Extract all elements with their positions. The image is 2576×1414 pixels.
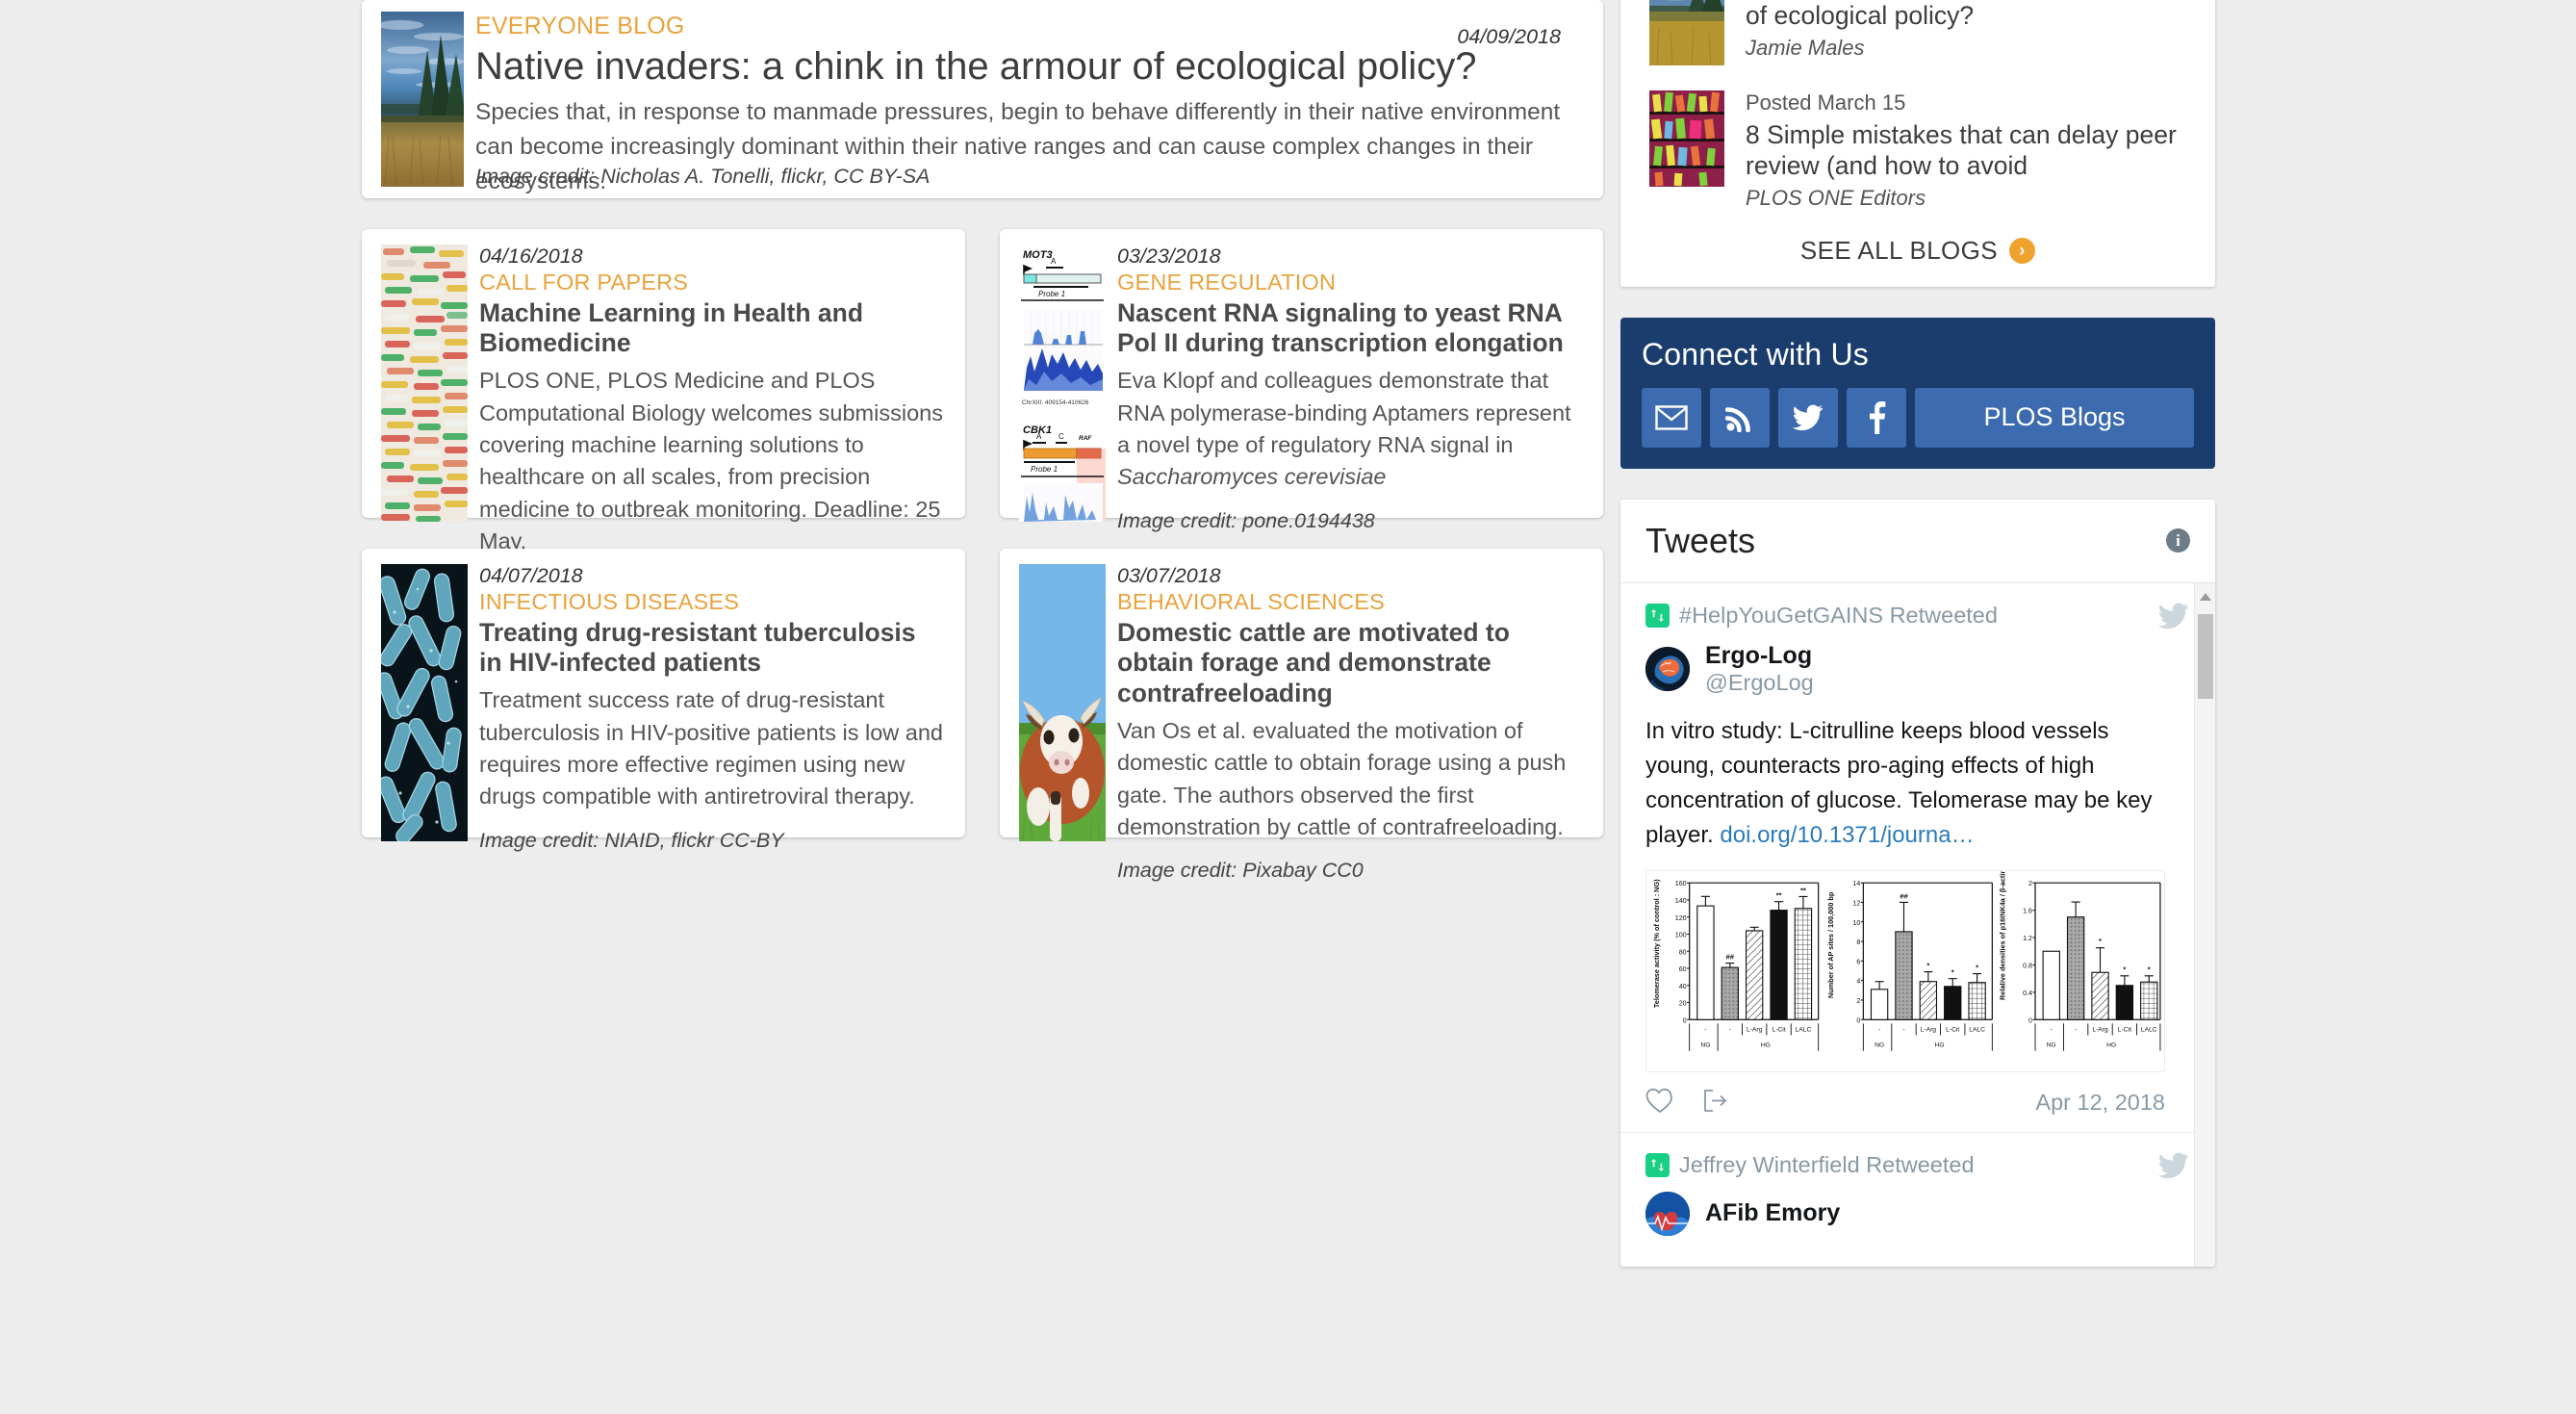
svg-text:L-Arg: L-Arg bbox=[1747, 1026, 1763, 1033]
svg-text:LALC: LALC bbox=[2141, 1026, 2157, 1033]
svg-text:2: 2 bbox=[1856, 997, 1860, 1005]
card-date: 04/07/2018 bbox=[479, 564, 944, 588]
card-headline[interactable]: Machine Learning in Health and Biomedici… bbox=[479, 298, 944, 360]
card-image-credit: Image credit: Pixabay CC0 bbox=[1117, 859, 1582, 883]
sticky-notes-wall-image bbox=[1649, 90, 1724, 187]
svg-text:10: 10 bbox=[1852, 918, 1860, 926]
blog-list-item[interactable]: Posted March 15 8 Simple mistakes that c… bbox=[1649, 65, 2186, 211]
mark-a: A bbox=[1051, 257, 1057, 266]
tweet-media[interactable]: Telomerase activity (% of control : NG) … bbox=[1645, 870, 2165, 1072]
svg-text:-: - bbox=[2051, 1026, 2053, 1033]
twitter-icon bbox=[1793, 404, 1824, 431]
mark-c: C bbox=[1058, 432, 1064, 441]
cow-in-field-image bbox=[1019, 564, 1106, 841]
card-headline[interactable]: Treating drug-resistant tuberculosis in … bbox=[479, 618, 944, 680]
svg-text:-: - bbox=[2075, 1026, 2077, 1033]
article-card-infectious-diseases[interactable]: 04/07/2018 INFECTIOUS DISEASES Treating … bbox=[362, 549, 965, 837]
tweet-display-name: Ergo-Log bbox=[1705, 642, 1814, 670]
featured-thumbnail bbox=[381, 12, 464, 187]
twitter-button[interactable] bbox=[1778, 388, 1838, 448]
svg-text:4: 4 bbox=[1856, 977, 1860, 985]
tweet-user-names: AFib Emory bbox=[1705, 1199, 1840, 1227]
tweet-user[interactable]: Ergo-Log @ErgoLog bbox=[1645, 642, 2165, 697]
svg-text:6: 6 bbox=[1856, 958, 1860, 965]
svg-text:8: 8 bbox=[1856, 938, 1860, 946]
tweets-header: Tweets i bbox=[1620, 500, 2215, 583]
retweet-arrows-icon bbox=[1650, 1159, 1665, 1171]
behavioral-sciences-card-body: 03/07/2018 BEHAVIORAL SCIENCES Domestic … bbox=[1117, 564, 1582, 820]
featured-image-credit: Image credit: Nicholas A. Tonelli, flick… bbox=[475, 165, 930, 189]
info-icon[interactable]: i bbox=[2166, 528, 2190, 553]
retweet-icon bbox=[1645, 1153, 1670, 1177]
blog-author: Jamie Males bbox=[1746, 36, 2186, 61]
connect-with-us-panel: Connect with Us bbox=[1620, 318, 2215, 469]
svg-text:2: 2 bbox=[2028, 880, 2032, 887]
svg-text:NG: NG bbox=[1700, 1041, 1710, 1048]
chart1-annot-5: ** bbox=[1800, 886, 1806, 894]
featured-date: 04/09/2018 bbox=[1457, 25, 1561, 49]
svg-text:-: - bbox=[1704, 1026, 1706, 1033]
tweet-date: Apr 12, 2018 bbox=[2035, 1090, 2165, 1116]
twitter-bird-icon bbox=[2157, 603, 2190, 634]
svg-text:0: 0 bbox=[2028, 1016, 2032, 1024]
machine-learning-thumbnail bbox=[381, 244, 468, 522]
sidebar-column: Native invaders: a chink in the armour o… bbox=[1620, 0, 2215, 1267]
svg-text:L-Cit: L-Cit bbox=[1772, 1026, 1785, 1033]
retweet-arrows-icon bbox=[1650, 609, 1665, 622]
card-kicker[interactable]: GENE REGULATION bbox=[1117, 269, 1582, 296]
blog-thumbnail bbox=[1649, 0, 1724, 65]
svg-text:120: 120 bbox=[1675, 913, 1687, 921]
svg-text:40: 40 bbox=[1679, 982, 1687, 990]
chromosome-coordinates: ChrXIII: 409154-410626 bbox=[1022, 399, 1089, 406]
svg-text:1.6: 1.6 bbox=[2023, 907, 2032, 914]
svg-text:-: - bbox=[1729, 1026, 1731, 1033]
svg-text:HG: HG bbox=[2106, 1041, 2116, 1048]
svg-text:-: - bbox=[1902, 1026, 1904, 1033]
blog-author: PLOS ONE Editors bbox=[1746, 186, 2186, 211]
chart2-annot-3: * bbox=[1926, 961, 1929, 969]
facebook-icon bbox=[1867, 401, 1886, 434]
social-buttons-row: PLOS Blogs bbox=[1642, 388, 2194, 448]
forest-landscape-image bbox=[381, 12, 464, 187]
chart2-annot-5: * bbox=[1976, 963, 1978, 971]
svg-text:80: 80 bbox=[1679, 948, 1687, 956]
blog-title[interactable]: Native invaders: a chink in the armour o… bbox=[1746, 0, 2186, 32]
tweet-handle: @ErgoLog bbox=[1705, 669, 1814, 696]
article-grid-row-1: 04/16/2018 CALL FOR PAPERS Machine Learn… bbox=[362, 229, 1603, 518]
retweet-line: #HelpYouGetGAINS Retweeted bbox=[1645, 603, 2165, 629]
tweet-actions: Apr 12, 2018 bbox=[1645, 1072, 2165, 1118]
behavioral-sciences-thumbnail bbox=[1019, 564, 1106, 841]
svg-text:60: 60 bbox=[1679, 965, 1687, 973]
gene-label-mot3: MOT3 bbox=[1023, 249, 1053, 261]
tweets-scrollbar[interactable] bbox=[2194, 583, 2215, 1267]
infectious-diseases-card-body: 04/07/2018 INFECTIOUS DISEASES Treating … bbox=[479, 564, 944, 820]
plos-blogs-label: PLOS Blogs bbox=[1983, 402, 2125, 432]
card-date: 03/23/2018 bbox=[1117, 244, 1582, 269]
retweet-line: Jeffrey Winterfield Retweeted bbox=[1645, 1152, 2165, 1178]
facebook-button[interactable] bbox=[1847, 388, 1906, 448]
svg-text:HG: HG bbox=[1935, 1041, 1945, 1048]
tweet-item[interactable]: Jeffrey Winterfield Retweeted bbox=[1620, 1133, 2215, 1267]
svg-text:1.2: 1.2 bbox=[2023, 935, 2032, 942]
chart1-annot-4: ** bbox=[1776, 890, 1782, 899]
email-button[interactable] bbox=[1642, 388, 1701, 448]
gene-regulation-card-body: 03/23/2018 GENE REGULATION Nascent RNA s… bbox=[1117, 244, 1582, 501]
svg-text:HG: HG bbox=[1761, 1041, 1771, 1048]
see-all-blogs-link[interactable]: SEE ALL BLOGS › bbox=[1649, 211, 2186, 266]
infectious-diseases-thumbnail bbox=[381, 564, 468, 841]
main-content-column: 04/09/2018 EVERYONE BLOG Native invaders… bbox=[362, 0, 1603, 837]
featured-article-card[interactable]: 04/09/2018 EVERYONE BLOG Native invaders… bbox=[362, 0, 1603, 198]
card-image-credit: Image credit: pone.0194438 bbox=[1117, 509, 1582, 533]
tweet-item[interactable]: #HelpYouGetGAINS Retweeted bbox=[1620, 583, 2215, 1133]
tweet-display-name: AFib Emory bbox=[1705, 1199, 1840, 1227]
blog-item-body: Posted March 15 8 Simple mistakes that c… bbox=[1746, 90, 2186, 211]
card-teaser: PLOS ONE, PLOS Medicine and PLOS Computa… bbox=[479, 365, 944, 557]
rss-icon bbox=[1725, 403, 1754, 432]
blog-title[interactable]: 8 Simple mistakes that can delay peer re… bbox=[1746, 119, 2186, 182]
gene-regulation-thumbnail: MOT3 A Probe 1 bbox=[1019, 244, 1106, 522]
like-button[interactable] bbox=[1645, 1088, 1674, 1118]
retweet-icon bbox=[1645, 604, 1670, 628]
svg-text:LALC: LALC bbox=[1796, 1026, 1812, 1033]
rss-button[interactable] bbox=[1710, 388, 1770, 448]
probe-label-2: Probe 1 bbox=[1031, 465, 1058, 474]
chart3-annot-3: * bbox=[2099, 937, 2102, 945]
svg-text:14: 14 bbox=[1852, 880, 1860, 887]
card-teaser: Van Os et al. evaluated the motivation o… bbox=[1117, 715, 1582, 843]
blogs-panel: Native invaders: a chink in the armour o… bbox=[1620, 0, 2215, 287]
chart1-ylabel: Telomerase activity (% of control : NG) bbox=[1652, 878, 1661, 1007]
chart1-annot-2: ## bbox=[1726, 952, 1735, 961]
svg-text:L-Cit: L-Cit bbox=[2118, 1026, 2131, 1033]
svg-text:L-Arg: L-Arg bbox=[2092, 1026, 2108, 1033]
tweets-scroll-area[interactable]: #HelpYouGetGAINS Retweeted bbox=[1620, 583, 2215, 1267]
share-out-icon bbox=[1701, 1088, 1730, 1114]
chart3-annot-5: * bbox=[2148, 964, 2151, 973]
retweet-label: Jeffrey Winterfield Retweeted bbox=[1679, 1152, 1975, 1178]
share-button[interactable] bbox=[1701, 1088, 1730, 1118]
afib-heart-avatar-image bbox=[1645, 1192, 1690, 1236]
blog-thumbnail bbox=[1649, 90, 1724, 187]
svg-text:LALC: LALC bbox=[1969, 1026, 1985, 1033]
retweet-label: #HelpYouGetGAINS Retweeted bbox=[1679, 603, 1998, 629]
see-all-blogs-label: SEE ALL BLOGS bbox=[1800, 236, 1998, 266]
chart3-annot-4: * bbox=[2123, 964, 2126, 973]
page-root: 04/09/2018 EVERYONE BLOG Native invaders… bbox=[0, 0, 2576, 1414]
card-kicker[interactable]: INFECTIOUS DISEASES bbox=[479, 588, 944, 616]
avatar bbox=[1645, 647, 1690, 691]
svg-text:140: 140 bbox=[1675, 897, 1687, 905]
svg-text:NG: NG bbox=[1875, 1041, 1884, 1048]
chevron-right-icon: › bbox=[2009, 238, 2035, 264]
card-teaser-text: Eva Klopf and colleagues demonstrate tha… bbox=[1117, 368, 1571, 457]
card-kicker[interactable]: CALL FOR PAPERS bbox=[479, 269, 944, 296]
tweets-title: Tweets bbox=[1645, 521, 1755, 561]
heart-icon bbox=[1645, 1088, 1674, 1114]
card-headline[interactable]: Nascent RNA signaling to yeast RNA Pol I… bbox=[1117, 298, 1582, 360]
plos-blogs-button[interactable]: PLOS Blogs bbox=[1915, 388, 2194, 448]
telomerase-bar-charts: Telomerase activity (% of control : NG) … bbox=[1646, 871, 2164, 1067]
featured-kicker[interactable]: EVERYONE BLOG bbox=[475, 12, 1582, 41]
card-headline[interactable]: Domestic cattle are motivated to obtain … bbox=[1117, 618, 1582, 709]
svg-text:0.8: 0.8 bbox=[2023, 962, 2032, 969]
card-kicker[interactable]: BEHAVIORAL SCIENCES bbox=[1117, 588, 1582, 616]
dry-field-image bbox=[1649, 0, 1724, 65]
blog-posted-date: Posted March 15 bbox=[1746, 90, 2186, 116]
card-teaser-species: Saccharomyces cerevisiae bbox=[1117, 464, 1387, 489]
mark-a-2: A bbox=[1036, 432, 1042, 441]
tweet-text: In vitro study: L-citrulline keeps blood… bbox=[1645, 714, 2165, 853]
svg-text:L-Arg: L-Arg bbox=[1921, 1026, 1937, 1033]
colorful-threads-image bbox=[381, 244, 468, 522]
article-card-gene-regulation[interactable]: MOT3 A Probe 1 bbox=[1000, 229, 1603, 518]
article-card-machine-learning[interactable]: 04/16/2018 CALL FOR PAPERS Machine Learn… bbox=[362, 229, 965, 518]
svg-text:12: 12 bbox=[1852, 899, 1860, 907]
card-date: 04/16/2018 bbox=[479, 244, 944, 269]
svg-text:L-Cit: L-Cit bbox=[1946, 1026, 1959, 1033]
svg-text:100: 100 bbox=[1675, 931, 1687, 938]
chart3-ylabel: Relative densities of p16INK4a / β-actin bbox=[1999, 871, 2007, 1000]
svg-text:0: 0 bbox=[1683, 1016, 1687, 1024]
card-date: 03/07/2018 bbox=[1117, 564, 1582, 588]
scrollbar-thumb[interactable] bbox=[2198, 614, 2213, 699]
probe-label-1: Probe 1 bbox=[1038, 290, 1065, 298]
card-image-credit: Image credit: NIAID, flickr CC-BY bbox=[479, 829, 944, 853]
svg-text:-: - bbox=[1878, 1026, 1880, 1033]
connect-title: Connect with Us bbox=[1642, 337, 2194, 373]
chart2-ylabel: Number of AP sites / 100,000 bp bbox=[1826, 891, 1835, 998]
avatar bbox=[1645, 1192, 1690, 1236]
scroll-up-arrow-icon[interactable] bbox=[2200, 593, 2211, 601]
svg-text:0.4: 0.4 bbox=[2023, 990, 2032, 997]
mark-raf: RAF bbox=[1079, 435, 1092, 442]
tweet-link[interactable]: doi.org/10.1371/journa… bbox=[1720, 822, 1974, 848]
genome-browser-track-image: MOT3 A Probe 1 bbox=[1019, 244, 1106, 522]
blog-item-body: Native invaders: a chink in the armour o… bbox=[1746, 0, 2186, 65]
tweet-user[interactable]: AFib Emory bbox=[1645, 1192, 2165, 1236]
svg-text:NG: NG bbox=[2047, 1041, 2056, 1048]
featured-card-body: 04/09/2018 EVERYONE BLOG Native invaders… bbox=[475, 12, 1582, 187]
svg-text:0: 0 bbox=[1856, 1016, 1860, 1024]
chart2-annot-4: * bbox=[1951, 967, 1954, 976]
tuberculosis-bacteria-micrograph bbox=[381, 564, 468, 841]
chart2-annot-2: ## bbox=[1900, 891, 1908, 900]
blog-list-item[interactable]: Native invaders: a chink in the armour o… bbox=[1649, 0, 2186, 65]
featured-headline[interactable]: Native invaders: a chink in the armour o… bbox=[475, 45, 1582, 89]
machine-learning-card-body: 04/16/2018 CALL FOR PAPERS Machine Learn… bbox=[479, 244, 944, 501]
svg-text:20: 20 bbox=[1679, 999, 1687, 1007]
card-teaser: Treatment success rate of drug-resistant… bbox=[479, 684, 944, 812]
svg-text:160: 160 bbox=[1675, 880, 1687, 887]
twitter-bird-icon bbox=[2157, 1152, 2190, 1184]
card-teaser: Eva Klopf and colleagues demonstrate tha… bbox=[1117, 365, 1582, 493]
tweets-panel: Tweets i #HelpYouGetGAINS Retweeted bbox=[1620, 500, 2215, 1267]
email-icon bbox=[1655, 405, 1688, 430]
article-grid-row-2: 04/07/2018 INFECTIOUS DISEASES Treating … bbox=[362, 549, 1603, 837]
tweet-user-names: Ergo-Log @ErgoLog bbox=[1705, 642, 1814, 697]
article-card-behavioral-sciences[interactable]: 03/07/2018 BEHAVIORAL SCIENCES Domestic … bbox=[1000, 549, 1603, 837]
brain-avatar-image bbox=[1645, 647, 1690, 691]
